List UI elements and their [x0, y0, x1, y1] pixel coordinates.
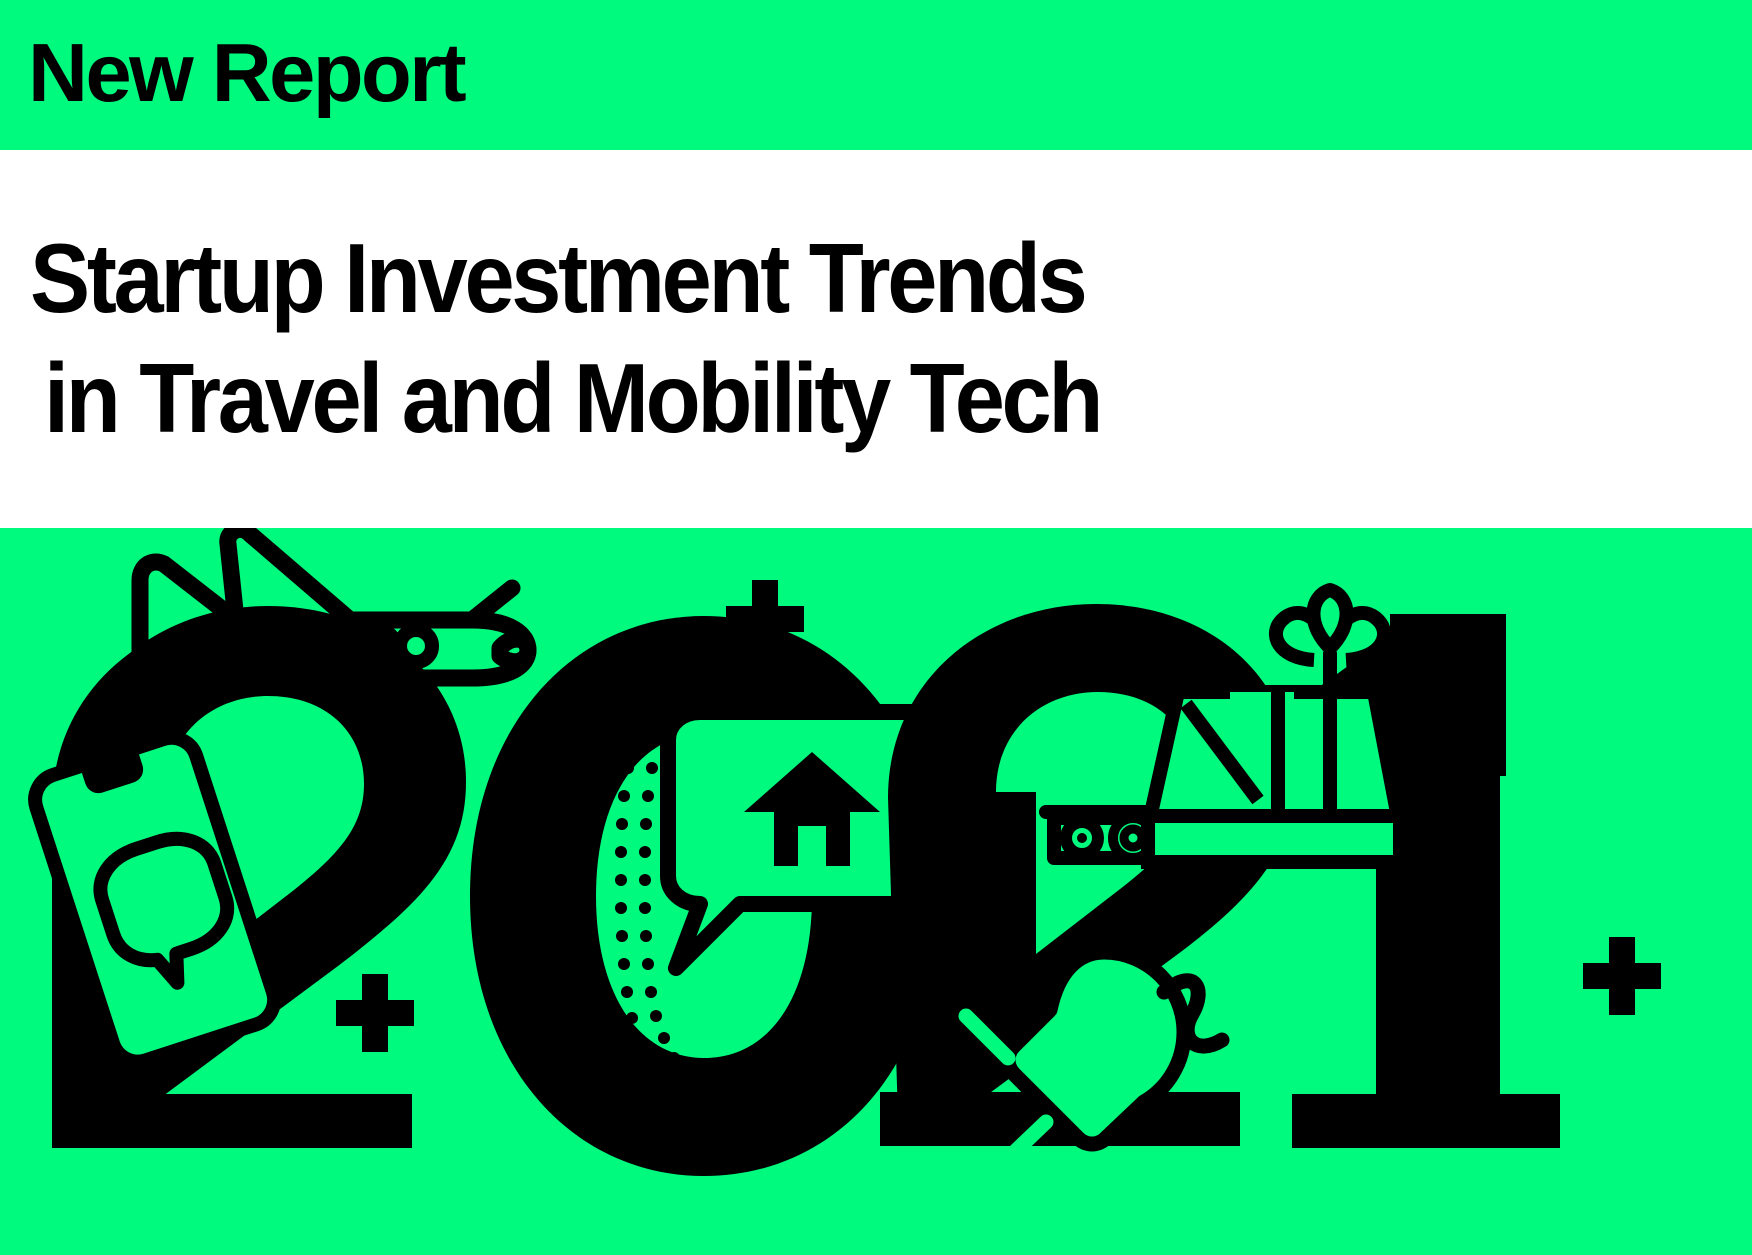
title-block: Startup Investment Trends in Travel and …: [0, 150, 1752, 528]
eyebrow-band: New Report: [0, 0, 1752, 150]
illustration-svg: [0, 528, 1752, 1255]
plus-mark-left: [336, 974, 414, 1052]
year-illustration: [0, 528, 1752, 1255]
plus-mark-right: [1583, 937, 1661, 1015]
eyebrow-label: New Report: [28, 31, 464, 114]
page-title-line-1: Startup Investment Trends: [30, 219, 1614, 339]
report-cover: New Report Startup Investment Trends in …: [0, 0, 1752, 1255]
page-title-line-2: in Travel and Mobility Tech: [44, 339, 1615, 459]
